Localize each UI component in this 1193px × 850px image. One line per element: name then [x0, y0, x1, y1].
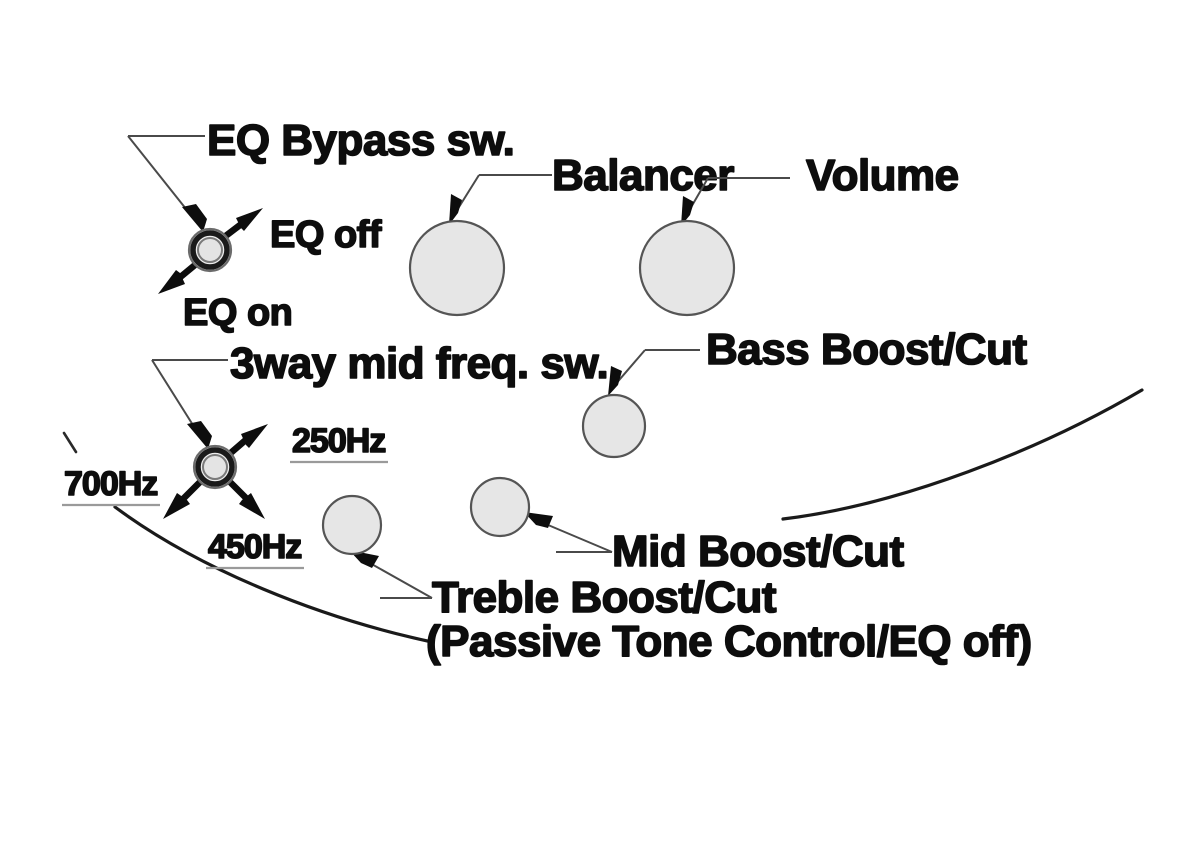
eq-off-label: EQ off [270, 214, 382, 256]
treble-subtitle-label: (Passive Tone Control/EQ off) [426, 617, 1032, 666]
bass-knob[interactable] [583, 395, 645, 457]
balancer-label: Balancer [552, 151, 734, 200]
bass-boost-cut-label: Bass Boost/Cut [706, 325, 1027, 374]
eq-bypass-sw-label: EQ Bypass sw. [207, 116, 514, 165]
mid-knob[interactable] [471, 478, 529, 536]
mid-boost-cut-label: Mid Boost/Cut [612, 527, 905, 576]
eq-on-label: EQ on [183, 292, 292, 334]
diagram-root: EQ Bypass sw. EQ off EQ on Balancer Volu… [0, 0, 1193, 850]
freq-450-label: 450Hz [208, 528, 301, 566]
balancer-knob[interactable] [410, 221, 504, 315]
treble-boost-cut-label: Treble Boost/Cut [432, 573, 777, 622]
treble-knob[interactable] [323, 496, 381, 554]
freq-700-label: 700Hz [64, 465, 157, 503]
mid-freq-switch-cap[interactable] [203, 455, 227, 479]
freq-250-label: 250Hz [292, 422, 385, 460]
control-layout-diagram: EQ Bypass sw. EQ off EQ on Balancer Volu… [0, 0, 1193, 850]
volume-knob[interactable] [640, 221, 734, 315]
three-way-mid-freq-sw-label: 3way mid freq. sw. [230, 339, 608, 388]
volume-label: Volume [806, 151, 959, 200]
eq-bypass-switch-cap[interactable] [198, 238, 222, 262]
